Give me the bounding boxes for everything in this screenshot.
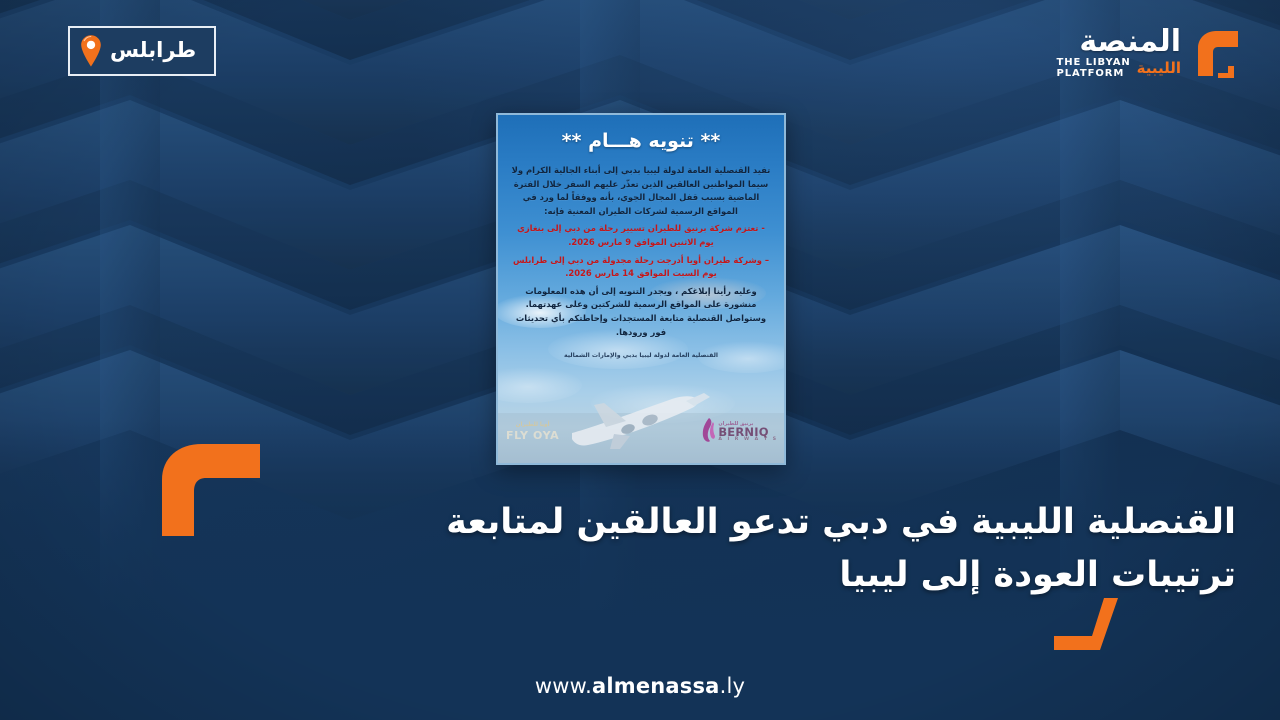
logo-arabic-main: المنصة — [1079, 27, 1181, 57]
logo-subtitle-row: THE LIBYAN PLATFORM الليبية — [1057, 58, 1181, 80]
location-badge-label: طرابلس — [110, 40, 196, 63]
logo-english: THE LIBYAN PLATFORM — [1057, 58, 1131, 80]
fly-oya-logo: أويا للطيران FLY OYA — [506, 423, 559, 441]
notice-paragraph-4: وعليه رأينا إبلاغكم ، ويجدر التنويه إلى … — [510, 285, 772, 339]
footer-url-suffix: .ly — [720, 674, 746, 698]
notice-paragraph-3: – وشركة طيران أويا أدرجت رحلة مجدولة من … — [510, 254, 772, 281]
logo-text-block: المنصة THE LIBYAN PLATFORM الليبية — [1057, 27, 1181, 80]
footer-url[interactable]: www.almenassa.ly — [0, 674, 1280, 698]
site-logo[interactable]: المنصة THE LIBYAN PLATFORM الليبية — [1030, 16, 1250, 90]
location-badge[interactable]: طرابلس — [68, 26, 216, 76]
logo-english-line2: PLATFORM — [1057, 69, 1131, 80]
almenassa-logo-mark-icon — [1188, 22, 1250, 84]
fly-oya-english: FLY OYA — [506, 430, 559, 441]
berniq-subtitle: A I R W A Y S — [718, 438, 778, 443]
page-headline: القنصلية الليبية في دبي تدعو العالقين لم… — [396, 496, 1236, 602]
logo-arabic-sub: الليبية — [1137, 61, 1181, 76]
notice-title: ** تنويه هـــام ** — [510, 131, 772, 152]
notice-card[interactable]: ** تنويه هـــام ** تفيد القنصلية العامة … — [496, 113, 786, 465]
footer-url-prefix: www. — [535, 674, 592, 698]
notice-paragraph-2: - تعتزم شركة برنيق للطيران تسيير رحلة من… — [510, 222, 772, 249]
orange-bracket-bottom-icon — [1052, 596, 1122, 652]
map-pin-icon — [78, 34, 104, 68]
poster-canvas: طرابلس المنصة THE LIBYAN PLATFORM الليبي… — [0, 0, 1280, 720]
berniq-text-block: برنيق للطيران BERNIQ A I R W A Y S — [718, 422, 778, 443]
footer-url-brand: almenassa — [592, 674, 720, 698]
notice-card-airline-logos: أويا للطيران FLY OYA برنيق للطيران BERNI… — [498, 387, 784, 455]
berniq-airways-logo: برنيق للطيران BERNIQ A I R W A Y S — [700, 417, 778, 443]
berniq-bird-icon — [700, 417, 716, 443]
logo-english-line1: THE LIBYAN — [1057, 58, 1131, 69]
notice-paragraph-1: تفيد القنصلية العامة لدولة ليبيا بدبي إل… — [510, 164, 772, 218]
notice-signature: القنصلية العامة لدولة ليبيا بدبي والإمار… — [510, 351, 772, 360]
orange-bracket-top-icon — [158, 440, 264, 536]
